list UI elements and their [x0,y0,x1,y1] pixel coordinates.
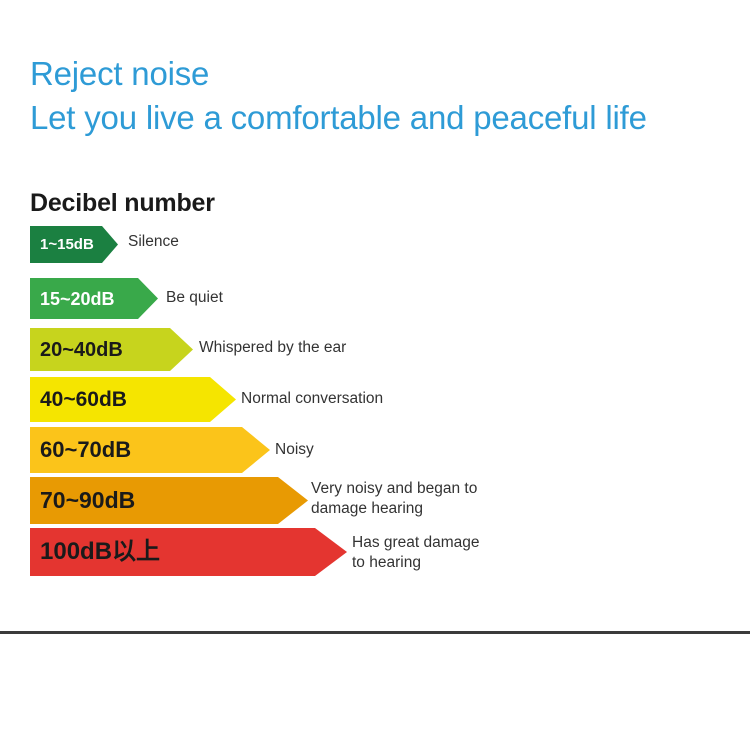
decibel-bar: 40~60dB [30,377,236,422]
decibel-bar-description: Very noisy and began to damage hearing [311,479,477,519]
decibel-bar: 70~90dB [30,477,308,524]
decibel-bar: 15~20dB [30,278,158,319]
decibel-bar-label: 60~70dB [30,439,131,461]
decibel-bar: 1~15dB [30,226,118,263]
decibel-bar-description: Normal conversation [241,389,383,409]
decibel-bar-description: Has great damage to hearing [352,533,480,573]
decibel-bar: 20~40dB [30,328,193,371]
decibel-bar-label: 20~40dB [30,340,123,360]
decibel-bar-label: 70~90dB [30,489,135,512]
decibel-bar: 100dB以上 [30,528,347,576]
bottom-divider [0,631,750,634]
decibel-bar: 60~70dB [30,427,270,473]
decibel-bar-description: Whispered by the ear [199,338,346,358]
decibel-bar-description: Silence [128,232,179,252]
decibel-bar-label: 100dB以上 [30,540,160,564]
decibel-bar-label: 15~20dB [30,290,115,308]
decibel-bar-label: 1~15dB [30,237,94,252]
poster-page: Reject noise Let you live a comfortable … [0,0,750,750]
decibel-bar-description: Be quiet [166,288,223,308]
decibel-bar-description: Noisy [275,440,314,460]
decibel-chart: 1~15dBSilence15~20dBBe quiet20~40dBWhisp… [0,0,750,750]
decibel-bar-label: 40~60dB [30,389,127,410]
